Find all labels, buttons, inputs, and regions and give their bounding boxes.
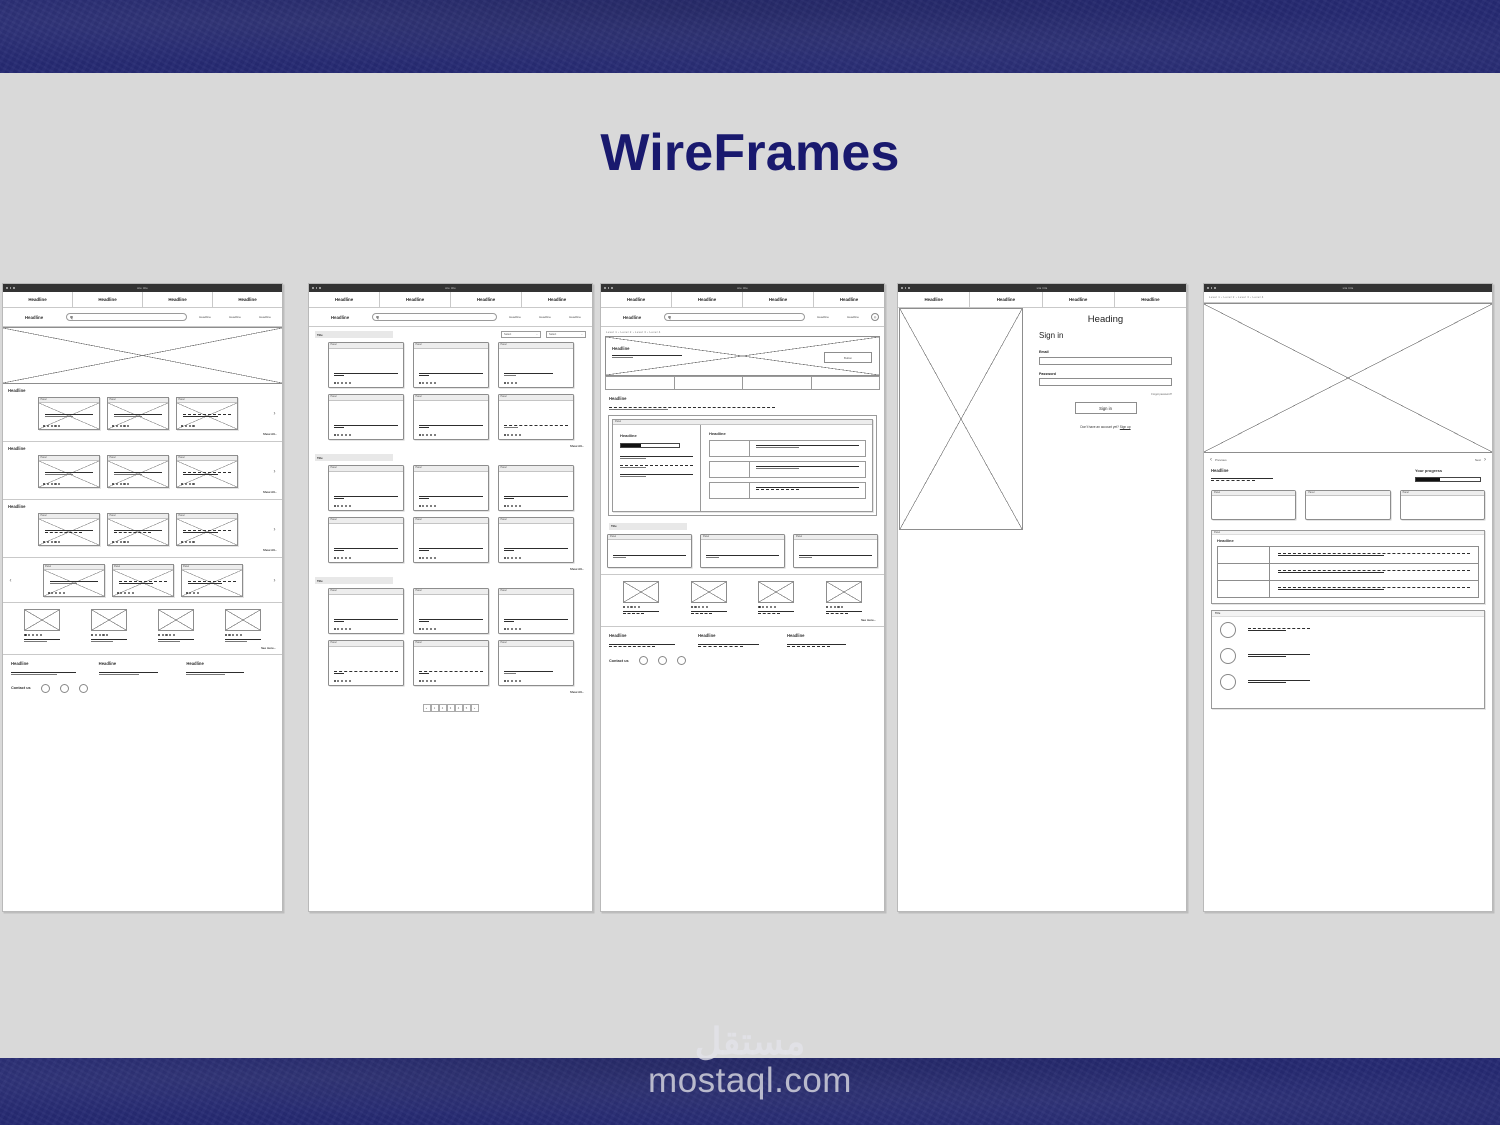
thumbnail-line (158, 639, 194, 640)
product-grid-1: Panel Panel Panel Panel Panel Panel (309, 338, 592, 440)
card-header-label: Panel (414, 589, 488, 595)
product-card[interactable]: Panel (328, 517, 404, 563)
row-text (750, 441, 865, 456)
show-all-link[interactable]: Show All... (8, 488, 277, 494)
thumbnail-image-placeholder (758, 581, 794, 603)
list-item[interactable] (1220, 622, 1476, 638)
rating-stars[interactable] (504, 557, 521, 559)
table-heading: Headline (1217, 538, 1479, 543)
panel-list-row[interactable] (709, 482, 866, 499)
nav-item-3[interactable]: Headline (143, 292, 213, 307)
thumbnail-item[interactable] (225, 609, 261, 643)
tab-2[interactable] (675, 377, 744, 389)
rating-stars[interactable] (504, 382, 518, 384)
browser-title: site title (1343, 287, 1354, 290)
product-grid-2: Panel Panel Panel Panel Panel Panel (309, 461, 592, 563)
product-card[interactable]: Panel (328, 342, 404, 388)
card-header-label: Panel (499, 343, 573, 349)
thumbnail-line (623, 611, 659, 612)
card-text-lines (45, 530, 93, 534)
email-label: Email (1039, 350, 1172, 354)
select-value: Select (504, 333, 511, 336)
browser-title: site title (445, 287, 456, 290)
page-title: WireFrames (0, 123, 1500, 183)
product-card[interactable]: Panel (107, 397, 169, 430)
header-link-1[interactable]: Headline (503, 315, 527, 319)
hero-line (612, 355, 682, 356)
rating-stars[interactable] (504, 434, 521, 436)
product-card[interactable]: Panel (413, 517, 489, 563)
thumbnail-image-placeholder (91, 609, 127, 631)
rating-stars[interactable] (158, 634, 194, 636)
breadcrumb[interactable]: Level 1 › Level 2 › Level 3 › Level 4 (601, 327, 884, 336)
rating-stars[interactable] (691, 606, 727, 608)
rating-stars[interactable] (91, 634, 127, 636)
pagination-item[interactable]: 3 (447, 704, 455, 712)
contact-row: Contact us (609, 656, 876, 665)
search-bar-row[interactable]: Headline Headline Headline Headline (309, 308, 592, 327)
content-card[interactable]: Panel (607, 534, 692, 568)
select-filter-2[interactable]: Select⌄ (546, 331, 586, 338)
thumbnail-item[interactable] (158, 609, 194, 643)
social-icon-2[interactable] (60, 684, 69, 693)
card-header-label: Panel (414, 641, 488, 647)
product-card[interactable]: Panel (328, 394, 404, 440)
header-link-1[interactable]: Headline (811, 315, 835, 319)
rating-stars[interactable] (117, 592, 134, 594)
lesson-card[interactable]: Panel (1305, 490, 1390, 520)
rating-stars[interactable] (504, 505, 521, 507)
rating-stars[interactable] (334, 628, 351, 630)
rating-stars[interactable] (758, 606, 794, 608)
carousel-next-icon[interactable]: › (272, 469, 277, 475)
password-field[interactable] (1039, 378, 1172, 386)
social-icon-3[interactable] (677, 656, 686, 665)
nav-item-3[interactable]: Headline (451, 292, 522, 307)
tab-strip[interactable] (605, 376, 880, 390)
card-text-lines (504, 373, 568, 377)
thumbnail-item[interactable] (623, 581, 659, 615)
contact-us-label: Contact us (11, 686, 31, 690)
product-card[interactable]: Panel (498, 465, 574, 511)
product-card[interactable]: Panel (413, 465, 489, 511)
wireframe-panel-detail[interactable]: site title Headline Headline Headline He… (600, 283, 885, 912)
product-card[interactable]: Panel (38, 513, 100, 546)
card-header-label: Panel (499, 518, 573, 524)
list-item-text (1248, 628, 1310, 632)
footer-heading: Headline (787, 633, 876, 638)
table-row[interactable] (1218, 564, 1479, 581)
forgot-password-link[interactable]: Forgot password? (1039, 393, 1172, 396)
card-text-lines (183, 530, 231, 534)
nav-item-4[interactable]: Headline (522, 292, 592, 307)
avatar[interactable]: ◍ (871, 313, 879, 321)
thumbnail-item[interactable] (758, 581, 794, 615)
tab-3[interactable] (743, 377, 812, 389)
see-more-link[interactable]: See more... (601, 618, 884, 626)
prev-next-nav[interactable]: ‹Previous Next› (1204, 453, 1492, 463)
search-icon (70, 316, 73, 319)
card-header-label: Panel (329, 395, 403, 401)
thumbnail-item[interactable] (691, 581, 727, 615)
pagination-item[interactable]: 2 (439, 704, 447, 712)
thumbnail-line (225, 641, 247, 642)
card-image-placeholder (108, 461, 168, 487)
list-item[interactable] (1220, 674, 1476, 690)
nav-item-2[interactable]: Headline (672, 292, 743, 307)
nav-item-1[interactable]: Headline (309, 292, 380, 307)
hero-cta-button[interactable]: Button (824, 352, 872, 363)
card-text-lines (504, 619, 568, 623)
product-card[interactable]: Panel (176, 397, 238, 430)
main-nav[interactable]: Headline Headline Headline Headline (309, 292, 592, 308)
footer-line (609, 646, 655, 647)
product-card[interactable]: Panel (43, 564, 105, 597)
product-card[interactable]: Panel (328, 588, 404, 634)
product-card[interactable]: Panel (498, 640, 574, 686)
content-table (1217, 546, 1479, 598)
signin-image-placeholder (899, 308, 1023, 530)
email-field[interactable] (1039, 357, 1172, 365)
card-text-lines (334, 548, 398, 552)
tab-1[interactable] (606, 377, 675, 389)
pagination-item[interactable]: 5 (463, 704, 471, 712)
card-header-label: Panel (499, 589, 573, 595)
thumbnail-image-placeholder (158, 609, 194, 631)
tab-4[interactable] (812, 377, 880, 389)
progress-bar (1415, 477, 1481, 482)
panel-split: Headline Headline (613, 425, 872, 511)
header-link-3[interactable]: Headline (253, 315, 277, 319)
panel-list-row[interactable] (709, 461, 866, 478)
card-image-placeholder (108, 403, 168, 429)
nav-item-4[interactable]: Headline (213, 292, 282, 307)
nav-item-2[interactable]: Headline (970, 292, 1042, 307)
search-bar-row[interactable]: Headline Headline Headline ◍ (601, 308, 884, 327)
pagination-item[interactable]: 1 (431, 704, 439, 712)
nav-item-1[interactable]: Headline (601, 292, 672, 307)
footer-line (11, 672, 76, 673)
card-header-label: Panel (414, 466, 488, 472)
header-link-2[interactable]: Headline (223, 315, 247, 319)
thumbnail-item[interactable] (24, 609, 60, 643)
footer-line (698, 644, 759, 645)
rating-stars[interactable] (334, 680, 351, 682)
card-text-lines (334, 496, 398, 500)
product-card[interactable]: Panel (107, 455, 169, 488)
card-image-placeholder (39, 461, 99, 487)
header-link-2[interactable]: Headline (533, 315, 557, 319)
search-input[interactable] (372, 313, 497, 321)
rating-stars[interactable] (186, 592, 200, 594)
product-card[interactable]: Panel (38, 397, 100, 430)
rating-stars[interactable] (43, 425, 60, 427)
card-image-placeholder (44, 570, 104, 596)
carousel-row[interactable]: ‹ Panel Panel Panel (8, 564, 277, 597)
card-text-lines (419, 671, 483, 675)
sign-in-button[interactable]: Sign in (1075, 402, 1137, 414)
main-nav[interactable]: Headline Headline Headline Headline (601, 292, 884, 308)
thumbnail-line (623, 613, 645, 614)
main-nav[interactable]: Headline Headline Headline Headline (898, 292, 1186, 308)
product-card[interactable]: Panel (328, 465, 404, 511)
rating-stars[interactable] (419, 680, 436, 682)
card-text-lines (613, 555, 686, 559)
rating-stars[interactable] (419, 628, 436, 630)
lesson-card[interactable]: Panel (1211, 490, 1296, 520)
card-text-lines (114, 472, 162, 476)
card-text-lines (504, 671, 568, 675)
pagination-item[interactable]: 4 (455, 704, 463, 712)
rating-stars[interactable] (334, 505, 351, 507)
filter-selects[interactable]: Select⌄ Select⌄ (501, 331, 586, 338)
avatar (1220, 674, 1236, 690)
carousel-prev-icon[interactable]: ‹ (8, 578, 13, 584)
browser-chrome-bar: site title (1204, 284, 1492, 292)
lesson-headline: Headline (1211, 468, 1273, 473)
panel-left-column: Headline (613, 425, 701, 511)
sign-up-link[interactable]: Sign up (1120, 425, 1131, 429)
footer-line (99, 672, 159, 673)
background-band-top (0, 0, 1500, 73)
rating-stars[interactable] (419, 557, 436, 559)
card-text-lines (50, 581, 98, 585)
lesson-line (1211, 478, 1273, 479)
panel-inner: Panel Headline Headline (612, 419, 873, 512)
pagination-item[interactable]: « (423, 704, 431, 712)
main-nav[interactable]: Headline Headline Headline Headline (3, 292, 282, 308)
product-card[interactable]: Panel (107, 513, 169, 546)
wireframe-panel-home[interactable]: site title Headline Headline Headline He… (2, 283, 283, 912)
avatar (1220, 648, 1236, 664)
product-card[interactable]: Panel (498, 588, 574, 634)
thumbnail-image-placeholder (826, 581, 862, 603)
rating-stars[interactable] (419, 505, 436, 507)
card-image-placeholder (177, 461, 237, 487)
rating-stars[interactable] (504, 680, 521, 682)
row-thumb (710, 483, 750, 498)
social-icon-1[interactable] (41, 684, 50, 693)
card-header-label: Panel (329, 343, 403, 349)
product-card[interactable]: Panel (498, 342, 574, 388)
card-header-label: Panel (499, 466, 573, 472)
window-controls-icon (6, 287, 15, 289)
wireframe-panel-signin[interactable]: site title Headline Headline Headline He… (897, 283, 1187, 912)
social-icon-2[interactable] (658, 656, 667, 665)
rating-stars[interactable] (181, 483, 195, 485)
card-header-label: Panel (701, 535, 784, 540)
carousel-next-icon[interactable]: › (272, 578, 277, 584)
lesson-card[interactable]: Panel (1400, 490, 1485, 520)
next-link[interactable]: Next› (1475, 457, 1486, 463)
product-section-1: Headline Panel Panel (3, 384, 282, 442)
rating-stars[interactable] (225, 634, 261, 636)
thumbnail-item[interactable] (826, 581, 862, 615)
section-title-row: Title Select⌄ Select⌄ (309, 327, 592, 338)
search-bar-row[interactable]: Headline Headline Headline Headline (3, 308, 282, 327)
social-icon-1[interactable] (639, 656, 648, 665)
card-text-lines (419, 496, 483, 500)
card-image-placeholder (108, 519, 168, 545)
rating-stars[interactable] (181, 425, 195, 427)
section-title: Title (609, 523, 687, 530)
carousel-row[interactable]: Panel Panel Panel (8, 513, 277, 546)
background-band-bottom (0, 1058, 1500, 1125)
previous-link[interactable]: ‹Previous (1210, 457, 1227, 463)
nav-item-1[interactable]: Headline (898, 292, 970, 307)
rating-stars[interactable] (112, 483, 129, 485)
nav-item-4[interactable]: Headline (814, 292, 884, 307)
rating-stars[interactable] (826, 606, 862, 608)
thumbnail-line (24, 639, 60, 640)
carousel-row[interactable]: Panel Panel Panel (8, 455, 277, 488)
brand-label: Headline (8, 315, 60, 320)
rating-stars[interactable] (504, 628, 521, 630)
rating-stars[interactable] (419, 434, 436, 436)
chevron-right-icon: › (1484, 457, 1486, 463)
panel-line (620, 456, 693, 457)
table-cell-thumb (1218, 564, 1270, 581)
pagination-item[interactable]: » (471, 704, 479, 712)
wireframe-panel-progress[interactable]: site title Level 1 › Level 2 › Level 3 ›… (1203, 283, 1493, 912)
content-card[interactable]: Panel (793, 534, 878, 568)
hero-headline: Headline (612, 346, 682, 351)
content-card[interactable]: Panel (700, 534, 785, 568)
search-input[interactable] (664, 313, 805, 321)
section-line (609, 409, 668, 410)
rating-stars[interactable] (112, 425, 129, 427)
contact-row: Contact us (11, 684, 274, 693)
footer-line (787, 646, 830, 647)
panel-line (620, 474, 693, 475)
panel-line (620, 465, 693, 466)
pagination[interactable]: « 1 2 3 4 5 » (309, 704, 592, 712)
rating-stars[interactable] (334, 382, 351, 384)
product-card[interactable]: Panel (112, 564, 174, 597)
rating-stars[interactable] (48, 592, 65, 594)
header-link-3[interactable]: Headline (563, 315, 587, 319)
card-list: Panel Panel Panel (17, 564, 268, 597)
progress-block: Your progress (1415, 468, 1485, 482)
rating-stars[interactable] (43, 483, 60, 485)
footer-columns: Headline Headline Headline (609, 633, 876, 648)
product-card[interactable]: Panel (413, 588, 489, 634)
social-icon-3[interactable] (79, 684, 88, 693)
product-card[interactable]: Panel (413, 342, 489, 388)
carousel-next-icon[interactable]: › (272, 527, 277, 533)
panel-line (620, 467, 646, 468)
footer-heading: Headline (99, 661, 187, 666)
video-image-placeholder (1204, 303, 1492, 453)
header-link-2[interactable]: Headline (841, 315, 865, 319)
thumbnail-item[interactable] (91, 609, 127, 643)
thumbnail-section: See more... (3, 603, 282, 655)
table-row[interactable] (1218, 547, 1479, 564)
thumbnail-line (826, 613, 848, 614)
header-link-1[interactable]: Headline (193, 315, 217, 319)
nav-item-3[interactable]: Headline (1043, 292, 1115, 307)
signin-form: Heading Sign in Email Password Forgot pa… (1023, 308, 1186, 912)
footer-column: Headline (186, 661, 274, 676)
rating-stars[interactable] (24, 634, 60, 636)
show-all-link[interactable]: Show All... (309, 686, 592, 694)
brand-label: Headline (314, 315, 366, 320)
hero-banner-placeholder: Headline Button (605, 336, 880, 376)
panel-list-row[interactable] (709, 440, 866, 457)
card-header-label: Panel (1212, 491, 1295, 496)
chevron-down-icon: ⌄ (536, 333, 538, 336)
product-card[interactable]: Panel (38, 455, 100, 488)
carousel-row[interactable]: Panel Panel Panel (8, 397, 277, 430)
product-card[interactable]: Panel (328, 640, 404, 686)
nav-item-3[interactable]: Headline (743, 292, 814, 307)
nav-item-1[interactable]: Headline (3, 292, 73, 307)
content-panel: Panel Headline Headline (608, 415, 877, 516)
card-text-lines (334, 619, 398, 623)
see-more-link[interactable]: See more... (3, 646, 282, 654)
show-all-link[interactable]: Show All... (309, 440, 592, 450)
rating-stars[interactable] (181, 541, 195, 543)
card-text-lines (45, 472, 93, 476)
rating-stars[interactable] (334, 557, 351, 559)
rating-stars[interactable] (623, 606, 659, 608)
footer-columns: Headline Headline Headline (11, 661, 274, 676)
list-item[interactable] (1220, 648, 1476, 664)
footer-column: Headline (99, 661, 187, 676)
product-card[interactable]: Panel (181, 564, 243, 597)
table-row[interactable] (1218, 581, 1479, 598)
rating-stars[interactable] (112, 541, 129, 543)
select-filter-1[interactable]: Select⌄ (501, 331, 541, 338)
card-text-lines (419, 619, 483, 623)
show-all-link[interactable]: Show All... (309, 563, 592, 573)
product-card[interactable]: Panel (413, 394, 489, 440)
card-text-lines (114, 414, 162, 418)
browser-chrome-bar: site title (898, 284, 1186, 292)
row-text (750, 483, 865, 498)
product-card[interactable]: Panel (176, 455, 238, 488)
panel-right-column: Headline (701, 425, 872, 511)
select-value: Select (549, 333, 556, 336)
nav-item-2[interactable]: Headline (380, 292, 451, 307)
rating-stars[interactable] (334, 434, 351, 436)
card-header-label: Panel (414, 395, 488, 401)
show-all-link[interactable]: Show All... (8, 430, 277, 436)
window-controls-icon (901, 287, 910, 289)
nav-item-4[interactable]: Headline (1115, 292, 1186, 307)
carousel-next-icon[interactable]: › (272, 411, 277, 417)
show-all-link[interactable]: Show All... (8, 546, 277, 552)
rating-stars[interactable] (419, 382, 436, 384)
card-list: Panel Panel Panel (8, 513, 268, 546)
product-card[interactable]: Panel (498, 517, 574, 563)
chevron-down-icon: ⌄ (581, 333, 583, 336)
card-image-placeholder (39, 519, 99, 545)
card-text-lines (334, 425, 398, 429)
window-controls-icon (312, 287, 321, 289)
rating-stars[interactable] (43, 541, 60, 543)
breadcrumb[interactable]: Level 1 › Level 2 › Level 3 › Level 4 (1204, 292, 1492, 303)
product-card[interactable]: Panel (413, 640, 489, 686)
nav-item-2[interactable]: Headline (73, 292, 143, 307)
panel-header-label: Title (1212, 611, 1484, 617)
footer-line (609, 644, 675, 645)
search-input[interactable] (66, 313, 187, 321)
product-card[interactable]: Panel (498, 394, 574, 440)
wireframe-panel-listing[interactable]: site title Headline Headline Headline He… (308, 283, 593, 912)
footer-heading: Headline (609, 633, 698, 638)
product-card[interactable]: Panel (176, 513, 238, 546)
